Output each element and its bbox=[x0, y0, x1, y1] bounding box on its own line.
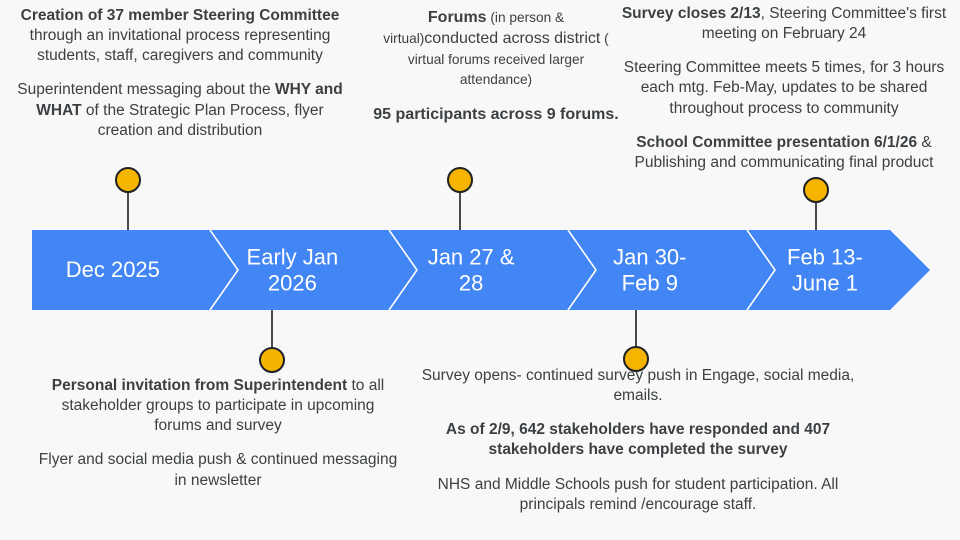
timeline-bar-shape bbox=[32, 230, 930, 310]
timeline-infographic: Creation of 37 member Steering Committee… bbox=[0, 0, 960, 540]
milestone-dot[interactable] bbox=[623, 346, 649, 372]
note-top-2-paragraph-1: Forums (in person & virtual)conducted ac… bbox=[370, 8, 622, 91]
note-top-forums: Forums (in person & virtual)conducted ac… bbox=[370, 8, 622, 126]
note-bot-1-p1-bold: Personal invitation from Superintendent bbox=[52, 377, 347, 394]
connector-bottom-1 bbox=[259, 310, 285, 373]
note-top-2-paragraph-2: 95 participants across 9 forums. bbox=[370, 105, 622, 126]
note-top-survey-closes: Survey closes 2/13, Steering Committee's… bbox=[614, 4, 954, 173]
connector-bottom-2 bbox=[623, 310, 649, 372]
note-bottom-personal-invitation: Personal invitation from Superintendent … bbox=[38, 376, 398, 491]
timeline-bar: Dec 2025 Early Jan 2026 Jan 27 & 28 Jan … bbox=[32, 230, 930, 310]
note-top-1-paragraph-2: Superintendent messaging about the WHY a… bbox=[8, 80, 352, 140]
note-bot-1-paragraph-2: Flyer and social media push & continued … bbox=[38, 450, 398, 490]
note-top-1-p2-a: Superintendent messaging about the bbox=[17, 81, 275, 98]
note-top-1-p2-b: of the Strategic Plan Process, flyer cre… bbox=[82, 102, 324, 139]
connector-top-2 bbox=[447, 167, 473, 230]
milestone-dot[interactable] bbox=[447, 167, 473, 193]
timeline-bar-body bbox=[32, 230, 930, 310]
note-top-2-p1-bold: Forums bbox=[428, 9, 487, 26]
note-bot-2-paragraph-2: As of 2/9, 642 stakeholders have respond… bbox=[412, 420, 864, 460]
note-bot-2-p2-bold: As of 2/9, 642 stakeholders have respond… bbox=[446, 421, 830, 458]
note-top-1-p1-rest: through an invitational process represen… bbox=[30, 27, 331, 64]
note-top-1-paragraph-1: Creation of 37 member Steering Committee… bbox=[8, 6, 352, 66]
note-top-3-paragraph-2: Steering Committee meets 5 times, for 3 … bbox=[614, 58, 954, 118]
note-top-3-paragraph-3: School Committee presentation 6/1/26 & P… bbox=[614, 133, 954, 173]
note-top-3-paragraph-1: Survey closes 2/13, Steering Committee's… bbox=[614, 4, 954, 44]
milestone-dot[interactable] bbox=[259, 347, 285, 373]
note-top-3-p3-bold: School Committee presentation 6/1/26 bbox=[636, 134, 917, 151]
note-bot-2-paragraph-3: NHS and Middle Schools push for student … bbox=[412, 475, 864, 515]
note-top-3-p1-bold: Survey closes 2/13 bbox=[622, 5, 761, 22]
milestone-dot[interactable] bbox=[803, 177, 829, 203]
connector-top-3 bbox=[803, 177, 829, 230]
milestone-dot[interactable] bbox=[115, 167, 141, 193]
note-top-2-p1-mid: conducted across district bbox=[424, 30, 600, 47]
note-bot-1-paragraph-1: Personal invitation from Superintendent … bbox=[38, 376, 398, 436]
note-bottom-survey-opens: Survey opens- continued survey push in E… bbox=[412, 366, 864, 515]
note-top-1-p1-bold: Creation of 37 member Steering Committee bbox=[21, 7, 340, 24]
note-top-dec-2025: Creation of 37 member Steering Committee… bbox=[8, 6, 352, 141]
connector-top-1 bbox=[115, 167, 141, 230]
note-top-2-p2-bold: 95 participants across 9 forums. bbox=[373, 106, 618, 123]
note-bot-2-paragraph-1: Survey opens- continued survey push in E… bbox=[412, 366, 864, 406]
